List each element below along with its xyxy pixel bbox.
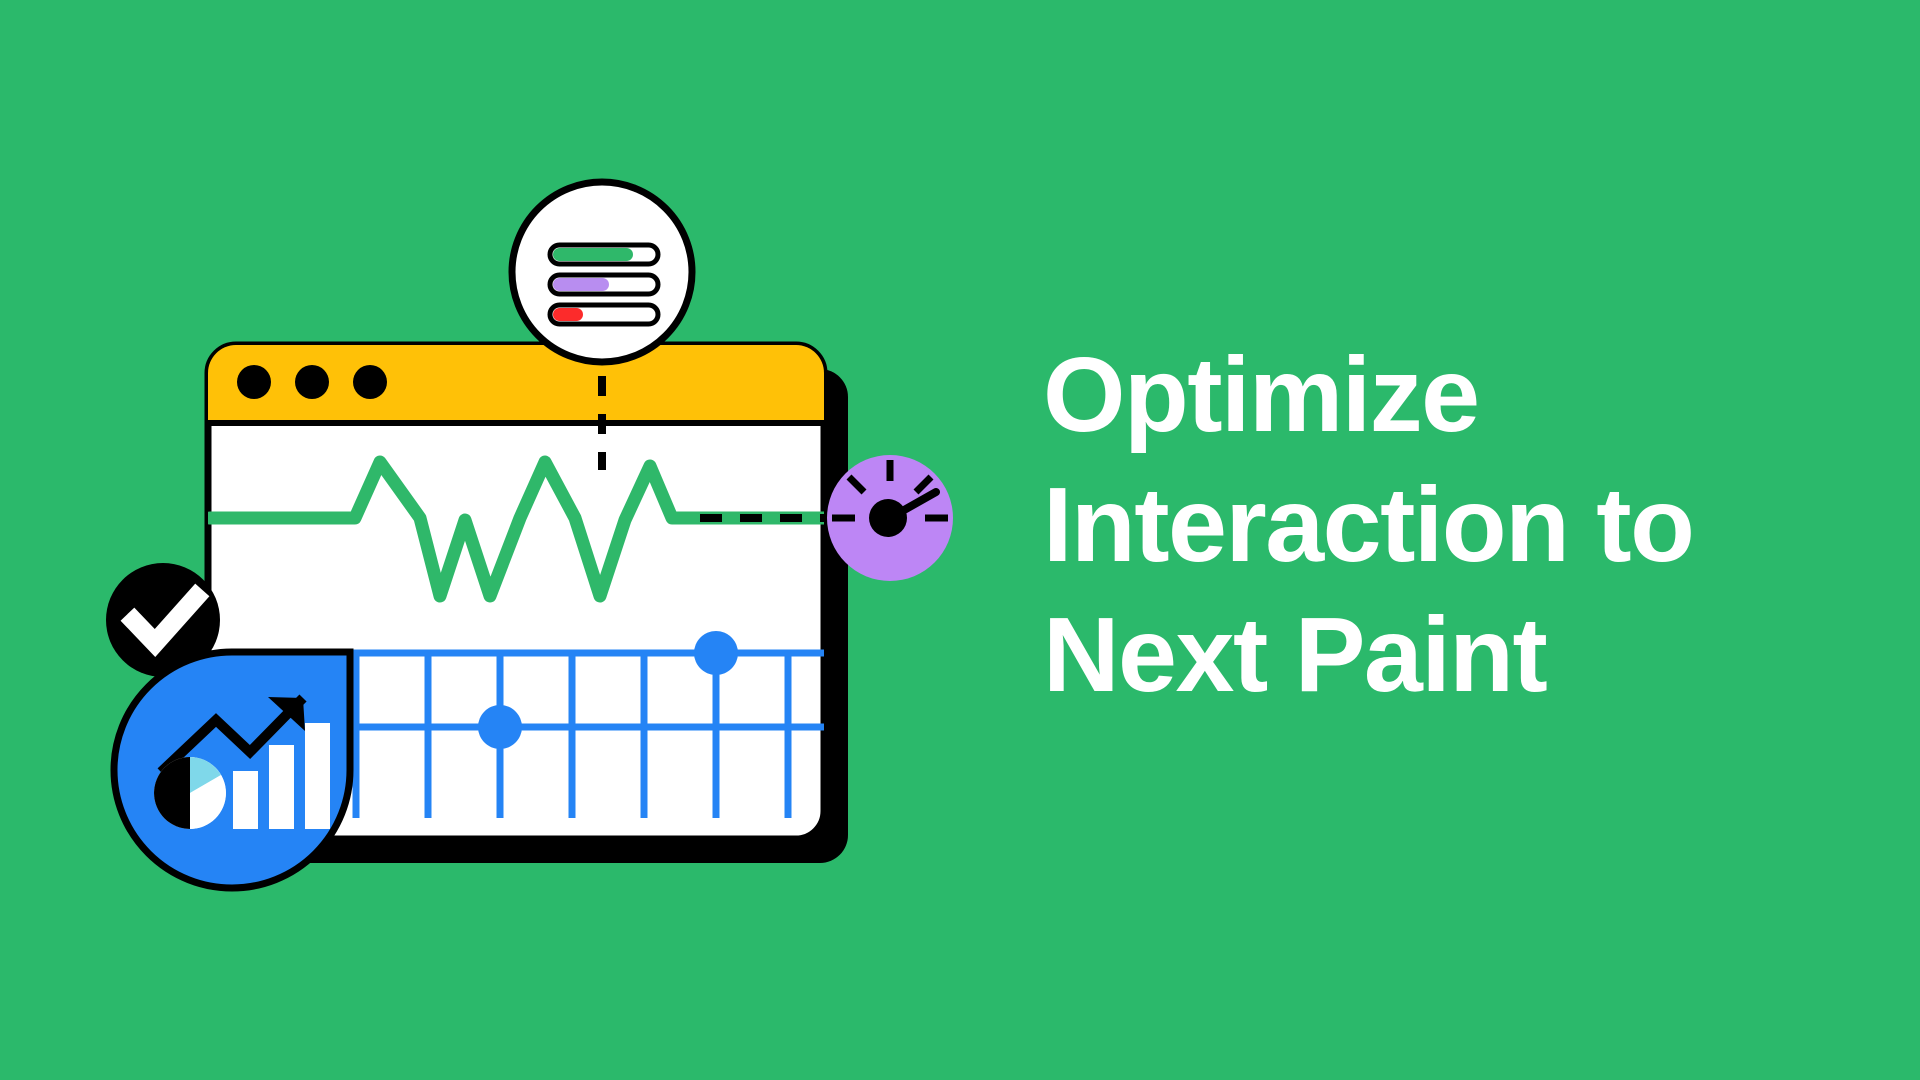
window-dot-2[interactable] xyxy=(295,365,329,399)
speed-gauge[interactable] xyxy=(827,455,953,581)
grid-point-1[interactable] xyxy=(478,705,522,749)
window-dot-3[interactable] xyxy=(353,365,387,399)
pie-chart-icon xyxy=(154,757,226,829)
grid-point-2[interactable] xyxy=(694,631,738,675)
performance-dashboard-illustration xyxy=(0,0,1040,1080)
window-dot-1[interactable] xyxy=(237,365,271,399)
gauge-hub xyxy=(869,499,907,537)
metrics-badge-face xyxy=(512,182,692,362)
analytics-bar-2 xyxy=(269,745,294,829)
page-title-line-3: Next Paint xyxy=(1043,590,1883,720)
illustration-canvas xyxy=(0,0,1040,1080)
page-title-line-2: Interaction to xyxy=(1043,460,1883,590)
cls-bar-fill xyxy=(553,308,583,321)
analytics-badge[interactable] xyxy=(114,650,350,888)
page-title-line-1: Optimize xyxy=(1043,330,1883,460)
analytics-bar-3 xyxy=(305,723,330,829)
page-title: Optimize Interaction to Next Paint xyxy=(1043,330,1883,720)
analytics-bar-1 xyxy=(233,771,258,829)
metrics-progress-badge[interactable] xyxy=(512,182,692,362)
page-root: Optimize Interaction to Next Paint xyxy=(0,0,1920,1080)
lcp-bar-fill xyxy=(553,248,633,261)
inp-bar-fill xyxy=(553,278,609,291)
